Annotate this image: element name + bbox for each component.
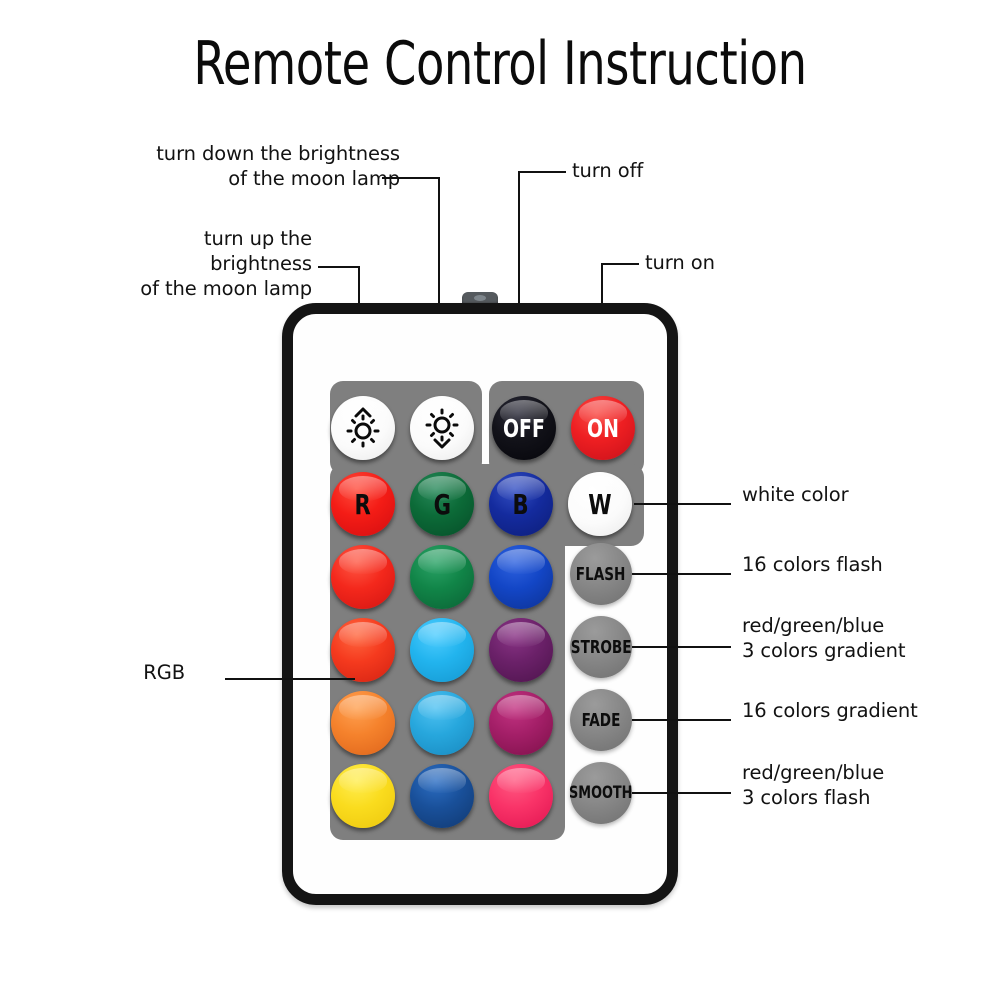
color-green-label: G <box>433 488 450 521</box>
callout-flash: 16 colors flash <box>742 552 962 577</box>
callout-white-color: white color <box>742 482 962 507</box>
smooth-button[interactable]: SMOOTH <box>570 762 632 824</box>
leader-smooth <box>632 792 731 794</box>
gloss-highlight <box>339 768 388 794</box>
gloss-highlight <box>418 695 467 721</box>
strobe-button[interactable]: STROBE <box>570 616 632 678</box>
leader-strobe <box>632 646 731 648</box>
color-green-button[interactable]: G <box>410 472 474 536</box>
leader-brightness-down-h <box>382 177 440 179</box>
callout-strobe: red/green/blue 3 colors gradient <box>742 613 968 663</box>
color-magenta-1-button[interactable] <box>489 691 553 755</box>
color-red-3-button[interactable] <box>331 618 395 682</box>
leader-rgb <box>225 678 355 680</box>
callout-rgb: RGB <box>120 660 185 685</box>
leader-fade <box>632 719 731 721</box>
gloss-highlight <box>418 622 467 648</box>
callout-brightness-down: turn down the brightness of the moon lam… <box>148 141 400 191</box>
flash-button[interactable]: FLASH <box>570 543 632 605</box>
gloss-highlight <box>497 695 546 721</box>
power-on-label: ON <box>587 414 619 443</box>
callout-turn-on: turn on <box>645 250 795 275</box>
color-red-button[interactable]: R <box>331 472 395 536</box>
callout-fade: 16 colors gradient <box>742 698 972 723</box>
power-off-label: OFF <box>503 414 545 443</box>
color-blue-button[interactable]: B <box>489 472 553 536</box>
gloss-highlight <box>418 549 467 575</box>
callout-smooth: red/green/blue 3 colors flash <box>742 760 968 810</box>
color-blue-2-button[interactable] <box>489 545 553 609</box>
sun-down-icon <box>410 396 474 460</box>
sun-up-icon <box>331 396 395 460</box>
page-title: Remote Control Instruction <box>70 28 930 100</box>
color-cyan-1-button[interactable] <box>410 618 474 682</box>
leader-flash <box>632 573 731 575</box>
leader-turn-on-h <box>601 263 639 265</box>
color-pink-button[interactable] <box>489 764 553 828</box>
leader-turn-off-h <box>518 171 566 173</box>
gloss-highlight <box>497 768 546 794</box>
callout-turn-off: turn off <box>572 158 732 183</box>
color-blue-label: B <box>513 488 529 521</box>
color-red-label: R <box>355 488 371 521</box>
flash-label: FLASH <box>576 564 626 585</box>
strobe-label: STROBE <box>571 637 632 658</box>
power-off-button[interactable]: OFF <box>492 396 556 460</box>
brightness-down-button[interactable] <box>410 396 474 460</box>
diagram-canvas: Remote Control Instruction turn down the… <box>0 0 1000 1000</box>
color-white-label: W <box>588 488 611 521</box>
power-on-button[interactable]: ON <box>571 396 635 460</box>
gloss-highlight <box>339 549 388 575</box>
color-orange-button[interactable] <box>331 691 395 755</box>
smooth-label: SMOOTH <box>569 783 632 803</box>
color-yellow-button[interactable] <box>331 764 395 828</box>
gloss-highlight <box>339 622 388 648</box>
gloss-highlight <box>497 622 546 648</box>
color-purple-1-button[interactable] <box>489 618 553 682</box>
fade-button[interactable]: FADE <box>570 689 632 751</box>
gloss-highlight <box>418 768 467 794</box>
fade-label: FADE <box>582 710 621 731</box>
gloss-highlight <box>339 695 388 721</box>
color-green-2-button[interactable] <box>410 545 474 609</box>
brightness-up-button[interactable] <box>331 396 395 460</box>
color-cyan-2-button[interactable] <box>410 691 474 755</box>
color-darkblue-button[interactable] <box>410 764 474 828</box>
color-white-button[interactable]: W <box>568 472 632 536</box>
color-red-2-button[interactable] <box>331 545 395 609</box>
gloss-highlight <box>497 549 546 575</box>
leader-white-color <box>634 503 731 505</box>
leader-brightness-up-h <box>318 266 360 268</box>
callout-brightness-up: turn up the brightness of the moon lamp <box>120 226 312 301</box>
